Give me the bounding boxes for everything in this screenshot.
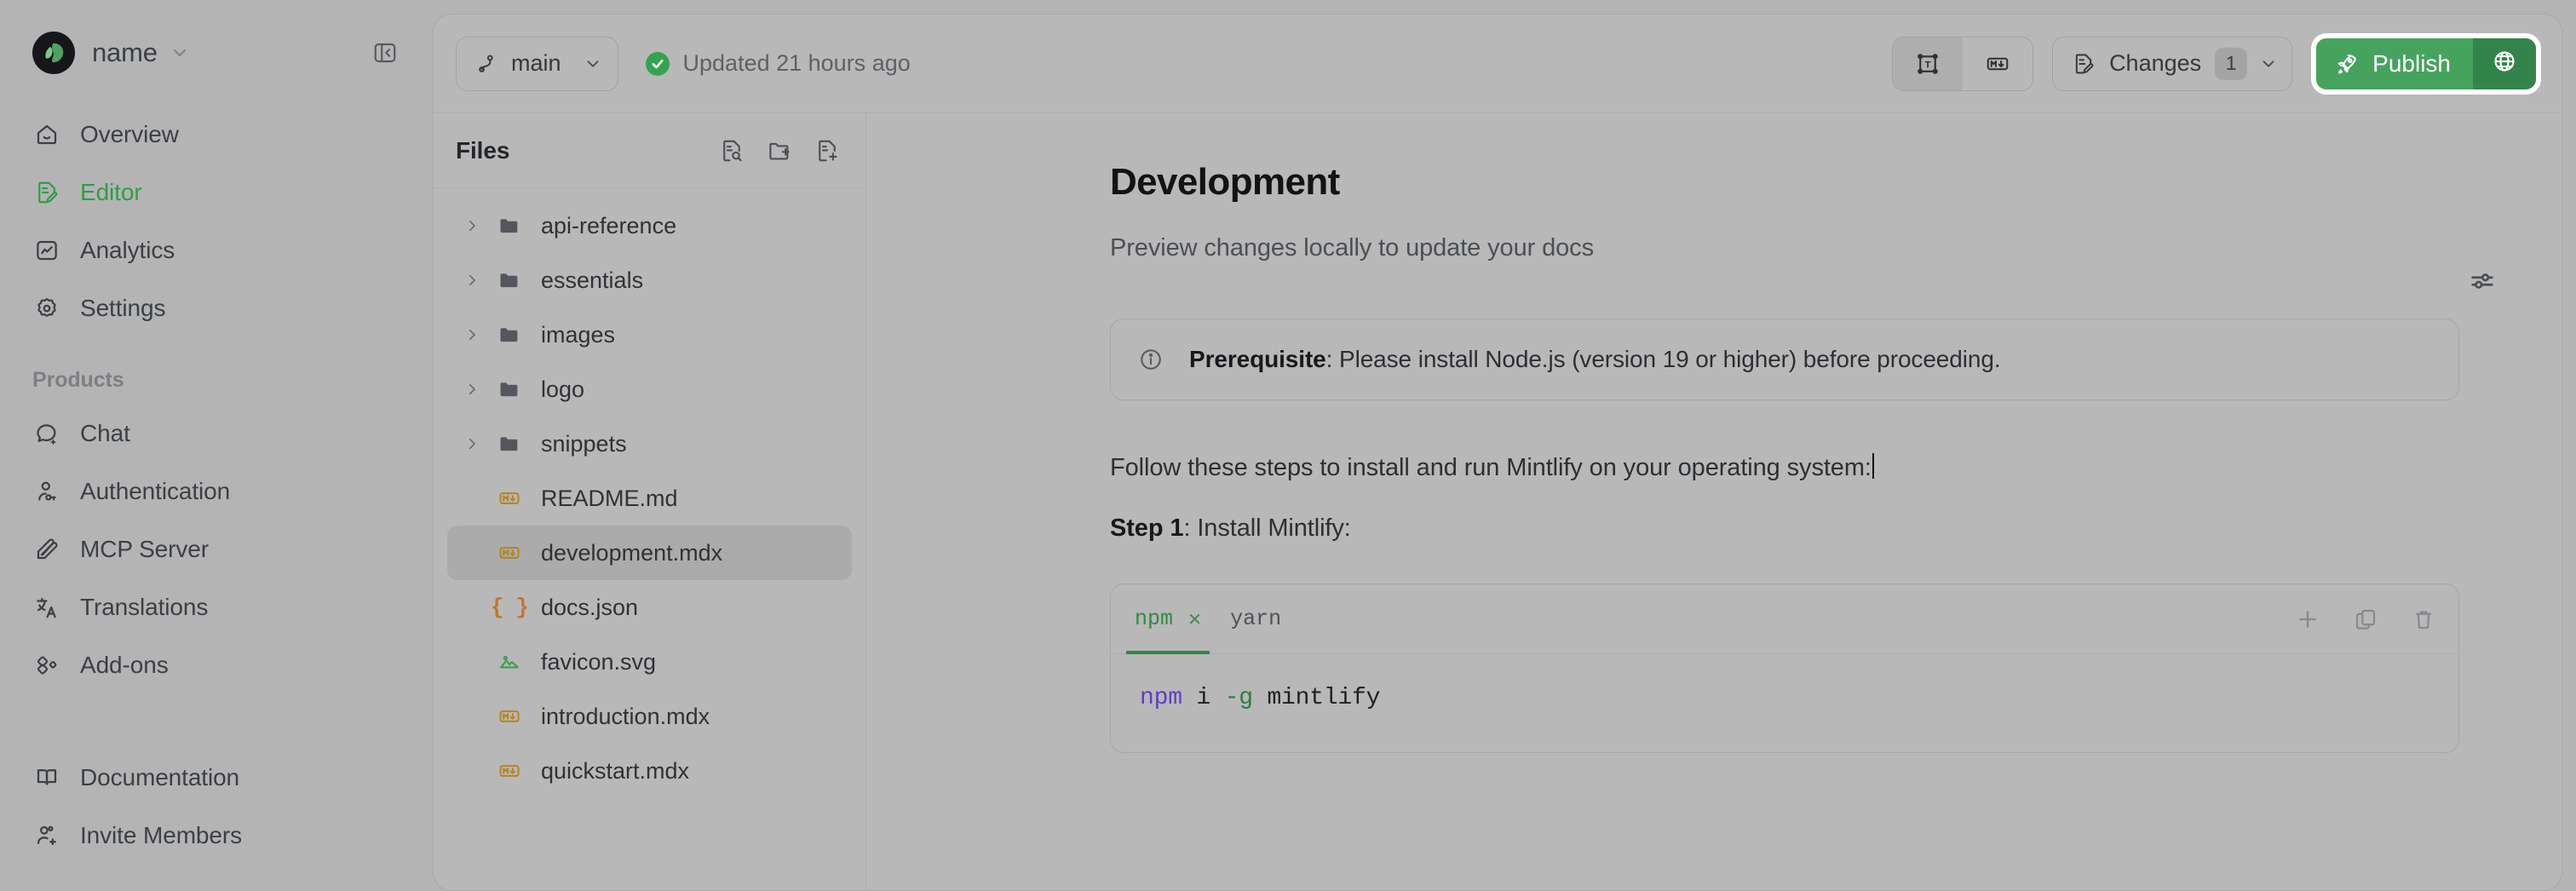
files-title: Files <box>456 137 509 164</box>
user-plus-icon <box>32 821 61 850</box>
sidebar-item-editor[interactable]: Editor <box>24 164 409 221</box>
info-callout: Prerequisite: Please install Node.js (ve… <box>1110 319 2459 400</box>
instruction-paragraph[interactable]: Follow these steps to install and run Mi… <box>1110 453 1874 482</box>
sidebar-section-products: Products <box>24 368 409 393</box>
home-icon <box>32 120 61 149</box>
sidebar-item-chat[interactable]: Chat <box>24 405 409 463</box>
git-branch-icon <box>475 53 497 75</box>
sliders-icon[interactable] <box>2468 267 2497 296</box>
tree-item-label: docs.json <box>541 595 638 621</box>
files-panel-header: Files <box>434 113 865 188</box>
file-tree: api-reference essentials images <box>434 188 865 798</box>
code-tab-label: yarn <box>1230 606 1281 631</box>
tree-item-label: quickstart.mdx <box>541 758 689 785</box>
translate-icon <box>32 593 61 622</box>
markdown-file-icon <box>495 486 524 510</box>
tree-item-label: logo <box>541 377 584 403</box>
tree-item-label: api-reference <box>541 213 676 239</box>
callout-bold: Prerequisite <box>1189 346 1326 372</box>
tree-item-label: development.mdx <box>541 540 722 566</box>
sync-status-text: Updated 21 hours ago <box>683 50 911 77</box>
folder-icon <box>495 377 524 401</box>
folder-icon <box>495 268 524 292</box>
gear-icon <box>32 294 61 323</box>
files-panel-actions <box>719 138 840 164</box>
tree-item-label: images <box>541 322 615 348</box>
chat-sparkle-icon <box>32 419 61 448</box>
user-key-icon <box>32 477 61 506</box>
tree-file-development-mdx[interactable]: development.mdx <box>447 526 852 580</box>
sidebar-item-label: Authentication <box>80 478 230 505</box>
sidebar-item-add-ons[interactable]: Add-ons <box>24 636 409 694</box>
sidebar-item-invite-members[interactable]: Invite Members <box>24 807 409 865</box>
callout-rest: : Please install Node.js (version 19 or … <box>1326 346 2001 372</box>
toolbar-right-group: T <box>1892 33 2541 95</box>
tree-folder-essentials[interactable]: essentials <box>447 253 852 308</box>
tree-item-label: favicon.svg <box>541 649 656 675</box>
sidebar-item-settings[interactable]: Settings <box>24 279 409 337</box>
sidebar: name Overview Editor <box>0 0 433 891</box>
page-title: Development <box>1110 161 2459 204</box>
check-circle-icon <box>646 52 670 76</box>
tree-folder-logo[interactable]: logo <box>447 362 852 417</box>
publish-button[interactable]: Publish <box>2316 38 2473 89</box>
svg-text:T: T <box>1925 60 1931 70</box>
sidebar-item-label: Chat <box>80 420 130 447</box>
tree-item-label: essentials <box>541 267 643 294</box>
sidebar-divider-space <box>24 694 409 725</box>
json-file-icon: { } <box>495 595 524 620</box>
file-edit-icon <box>2072 52 2096 76</box>
main-panel-wrap: main Updated 21 hours ago <box>433 0 2576 891</box>
publish-label: Publish <box>2372 50 2451 78</box>
code-token-command: npm <box>1140 685 1182 711</box>
markdown-file-icon <box>495 541 524 565</box>
image-file-icon <box>495 650 524 674</box>
markdown-file-icon <box>495 704 524 728</box>
code-token-flag: -g <box>1225 685 1253 711</box>
folder-icon <box>495 432 524 456</box>
step-label: Step 1 <box>1110 514 1183 542</box>
code-tab-npm[interactable]: npm ✕ <box>1135 584 1201 653</box>
sidebar-item-label: Overview <box>80 121 179 148</box>
sidebar-item-translations[interactable]: Translations <box>24 578 409 636</box>
tree-file-favicon-svg[interactable]: favicon.svg <box>447 635 852 689</box>
code-tab-label: npm <box>1135 606 1173 631</box>
main-panel: main Updated 21 hours ago <box>433 14 2562 891</box>
tree-item-label: introduction.mdx <box>541 704 710 730</box>
tree-file-introduction-mdx[interactable]: introduction.mdx <box>447 689 852 744</box>
branch-selector[interactable]: main <box>456 37 618 91</box>
tree-file-quickstart-mdx[interactable]: quickstart.mdx <box>447 744 852 798</box>
chevron-down-icon <box>2259 55 2278 73</box>
copy-icon[interactable] <box>2353 606 2378 632</box>
tree-item-label: README.md <box>541 486 678 512</box>
code-tab-bar: npm ✕ yarn <box>1111 584 2458 654</box>
tree-folder-snippets[interactable]: snippets <box>447 417 852 471</box>
step-rest: : Install Mintlify: <box>1183 514 1350 542</box>
chevron-right-icon <box>464 273 483 288</box>
code-content[interactable]: npm i -g mintlify <box>1111 654 2458 752</box>
org-switcher[interactable]: name <box>24 0 409 106</box>
changes-label: Changes <box>2109 50 2201 77</box>
sidebar-item-documentation[interactable]: Documentation <box>24 749 409 807</box>
new-file-icon[interactable] <box>814 138 840 164</box>
sync-status: Updated 21 hours ago <box>646 50 911 77</box>
folder-icon <box>495 323 524 347</box>
markdown-icon[interactable] <box>1963 37 2033 90</box>
text-cursor <box>1872 453 1874 479</box>
publish-button-group: Publish <box>2311 33 2541 95</box>
instruction-text: Follow these steps to install and run Mi… <box>1110 454 1872 481</box>
page-subtitle: Preview changes locally to update your d… <box>1110 234 2459 262</box>
text-frame-icon[interactable]: T <box>1893 37 1963 90</box>
new-folder-icon[interactable] <box>767 138 792 164</box>
files-panel: Files <box>434 113 866 890</box>
close-icon[interactable]: ✕ <box>1188 606 1201 632</box>
layers-icon <box>32 535 61 564</box>
app-root: name Overview Editor <box>0 0 2576 891</box>
panel-collapse-icon[interactable] <box>368 36 402 70</box>
sidebar-item-label: MCP Server <box>80 536 209 563</box>
sidebar-item-label: Settings <box>80 295 165 322</box>
chevron-down-icon[interactable] <box>170 43 190 63</box>
editor-mode-toggle: T <box>1892 37 2033 91</box>
sidebar-item-mcp-server[interactable]: MCP Server <box>24 520 409 578</box>
chevron-right-icon <box>464 436 483 451</box>
document-editor: Development Preview changes locally to u… <box>866 113 2562 890</box>
sidebar-item-label: Translations <box>80 594 208 621</box>
tree-item-label: snippets <box>541 431 627 457</box>
panel-body: Files <box>434 113 2562 890</box>
chevron-right-icon <box>464 327 483 342</box>
delete-icon[interactable] <box>2411 606 2436 632</box>
callout-text: Prerequisite: Please install Node.js (ve… <box>1189 346 2001 373</box>
document-body[interactable]: Development Preview changes locally to u… <box>866 161 2562 753</box>
tree-file-readme-md[interactable]: README.md <box>447 471 852 526</box>
chevron-right-icon <box>464 382 483 397</box>
chevron-down-icon <box>584 55 602 73</box>
chart-square-icon <box>32 236 61 265</box>
file-edit-icon <box>32 178 61 207</box>
chevron-right-icon <box>464 218 483 233</box>
tree-folder-api-reference[interactable]: api-reference <box>447 198 852 253</box>
publish-globe-button[interactable] <box>2473 38 2536 89</box>
sidebar-main-nav: Overview Editor Analytics Settings <box>24 106 409 337</box>
sidebar-item-authentication[interactable]: Authentication <box>24 463 409 520</box>
step-1-line: Step 1: Install Mintlify: <box>1110 514 2459 543</box>
rocket-icon <box>2335 52 2359 76</box>
sidebar-item-label: Editor <box>80 179 142 206</box>
org-name: name <box>92 37 158 68</box>
code-block-actions <box>2295 606 2436 632</box>
sidebar-bottom-nav: Documentation Invite Members <box>24 749 409 865</box>
tree-file-docs-json[interactable]: { } docs.json <box>447 580 852 635</box>
globe-icon <box>2492 49 2517 78</box>
code-token-arg: mintlify <box>1253 685 1380 711</box>
changes-count-badge: 1 <box>2215 48 2247 80</box>
code-block: npm ✕ yarn <box>1110 583 2459 753</box>
info-circle-icon <box>1138 347 1169 372</box>
add-tab-icon[interactable] <box>2295 606 2320 632</box>
mint-leaf-logo-icon <box>32 32 75 74</box>
sidebar-products-nav: Chat Authentication MCP Server Translati… <box>24 405 409 694</box>
book-open-icon <box>32 763 61 792</box>
branch-name: main <box>511 50 561 77</box>
code-token-plain: i <box>1182 685 1225 711</box>
editor-toolbar: main Updated 21 hours ago <box>434 14 2562 113</box>
tree-folder-images[interactable]: images <box>447 308 852 362</box>
sidebar-item-overview[interactable]: Overview <box>24 106 409 164</box>
sidebar-item-label: Invite Members <box>80 822 242 849</box>
markdown-file-icon <box>495 759 524 783</box>
changes-button[interactable]: Changes 1 <box>2052 37 2292 91</box>
puzzle-diamond-icon <box>32 651 61 680</box>
folder-icon <box>495 214 524 238</box>
sidebar-item-label: Add-ons <box>80 652 169 679</box>
search-file-icon[interactable] <box>719 138 745 164</box>
sidebar-item-label: Documentation <box>80 764 239 791</box>
sidebar-item-label: Analytics <box>80 237 175 264</box>
code-tab-yarn[interactable]: yarn <box>1230 584 1281 653</box>
sidebar-item-analytics[interactable]: Analytics <box>24 221 409 279</box>
